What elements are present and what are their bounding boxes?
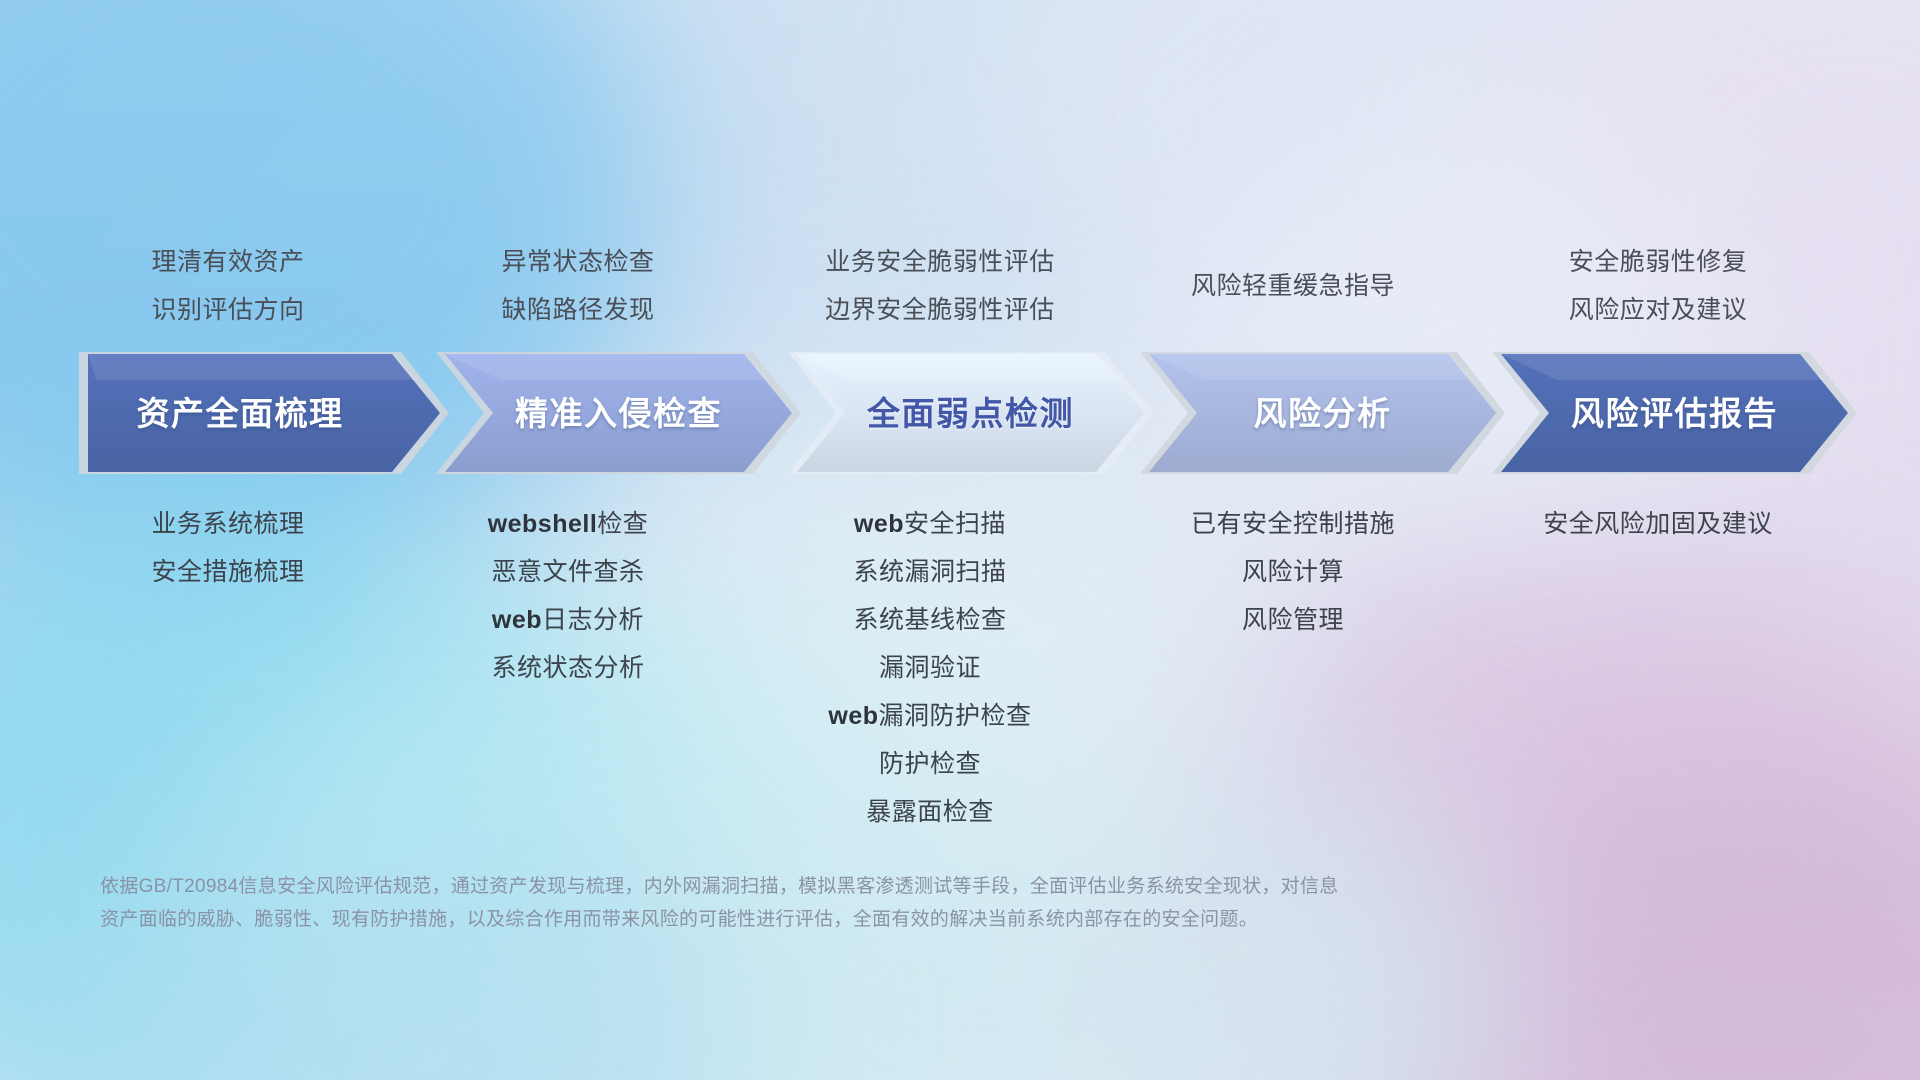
label-item-emphasis: web — [828, 702, 878, 730]
label-item: web漏洞防护检查 — [630, 692, 1230, 740]
label-item: 风险管理 — [993, 596, 1593, 644]
label-item: 安全脆弱性修复 — [1358, 238, 1920, 286]
chevron-sheen — [88, 354, 418, 380]
bottom-labels-risk-report: 安全风险加固及建议 — [1358, 500, 1920, 548]
label-item-emphasis: webshell — [488, 510, 598, 538]
chevron-sheen — [445, 354, 770, 380]
label-item-emphasis: web — [854, 510, 904, 538]
label-item: 安全风险加固及建议 — [1358, 500, 1920, 548]
chevron-sheen — [1149, 354, 1474, 380]
label-item: 防护检查 — [630, 740, 1230, 788]
process-diagram: 理清有效资产识别评估方向异常状态检查缺陷路径发现业务安全脆弱性评估边界安全脆弱性… — [0, 0, 1920, 1080]
chevron-shapes — [0, 352, 1920, 476]
label-item: 风险应对及建议 — [1358, 286, 1920, 334]
process-chevron-band — [0, 352, 1920, 470]
label-item: 暴露面检查 — [630, 788, 1230, 836]
footer-line-2: 资产面临的威胁、脆弱性、现有防护措施，以及综合作用而带来风险的可能性进行评估，全… — [100, 903, 1660, 936]
footer-description: 依据GB/T20984信息安全风险评估规范，通过资产发现与梳理，内外网漏洞扫描，… — [100, 870, 1660, 936]
label-item: 风险计算 — [993, 548, 1593, 596]
top-labels-risk-report: 安全脆弱性修复风险应对及建议 — [1358, 238, 1920, 334]
footer-line-1: 依据GB/T20984信息安全风险评估规范，通过资产发现与梳理，内外网漏洞扫描，… — [100, 870, 1660, 903]
label-item: 漏洞验证 — [630, 644, 1230, 692]
chevron-sheen — [1501, 354, 1826, 380]
chevron-sheen — [797, 354, 1122, 380]
label-item-emphasis: web — [492, 606, 542, 634]
